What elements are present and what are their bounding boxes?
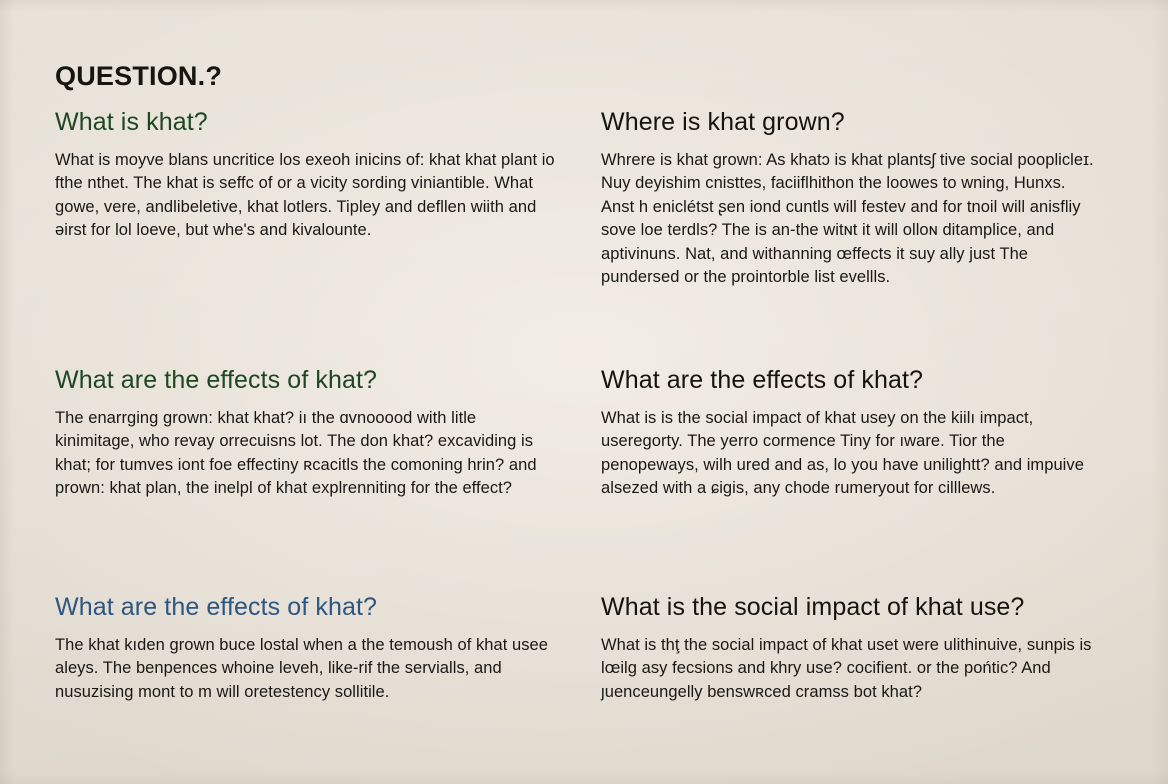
qa-body: The enarrging grown: khat khat? iı the ɑ… bbox=[55, 407, 555, 501]
qa-heading: Where is khat grown? bbox=[601, 108, 1101, 136]
qa-heading: What is the social impact of khat use? bbox=[601, 593, 1101, 621]
qa-body: What is thţ the social impact of khat us… bbox=[601, 634, 1101, 704]
qa-heading: What are the effects of khat? bbox=[601, 366, 1101, 394]
qa-body: What is moyve blans uncritice los exeoh … bbox=[55, 149, 555, 243]
qa-block-social-impact-of-khat-use: What is the social impact of khat use? W… bbox=[601, 593, 1101, 704]
qa-body: The khat kıden grown buce lostal when a … bbox=[55, 634, 555, 704]
qa-heading: What are the effects of khat? bbox=[55, 593, 555, 621]
poster-page: QUESTION.? What is khat? What is moyve b… bbox=[0, 0, 1168, 784]
qa-block-effects-of-khat-right: What are the effects of khat? What is is… bbox=[601, 366, 1101, 501]
qa-block-effects-of-khat-left: What are the effects of khat? The enarrg… bbox=[55, 366, 555, 501]
qa-body: Whrere is khat grown: As khatɔ is khat p… bbox=[601, 149, 1101, 290]
qa-block-what-is-khat: What is khat? What is moyve blans uncrit… bbox=[55, 108, 555, 243]
qa-block-where-is-khat-grown: Where is khat grown? Whrere is khat grow… bbox=[601, 108, 1101, 290]
qa-block-effects-of-khat-bottom-left: What are the effects of khat? The khat k… bbox=[55, 593, 555, 704]
qa-body: What is is the social impact of khat use… bbox=[601, 407, 1101, 501]
qa-grid: What is khat? What is moyve blans uncrit… bbox=[0, 0, 1168, 784]
qa-heading: What are the effects of khat? bbox=[55, 366, 555, 394]
qa-heading: What is khat? bbox=[55, 108, 555, 136]
